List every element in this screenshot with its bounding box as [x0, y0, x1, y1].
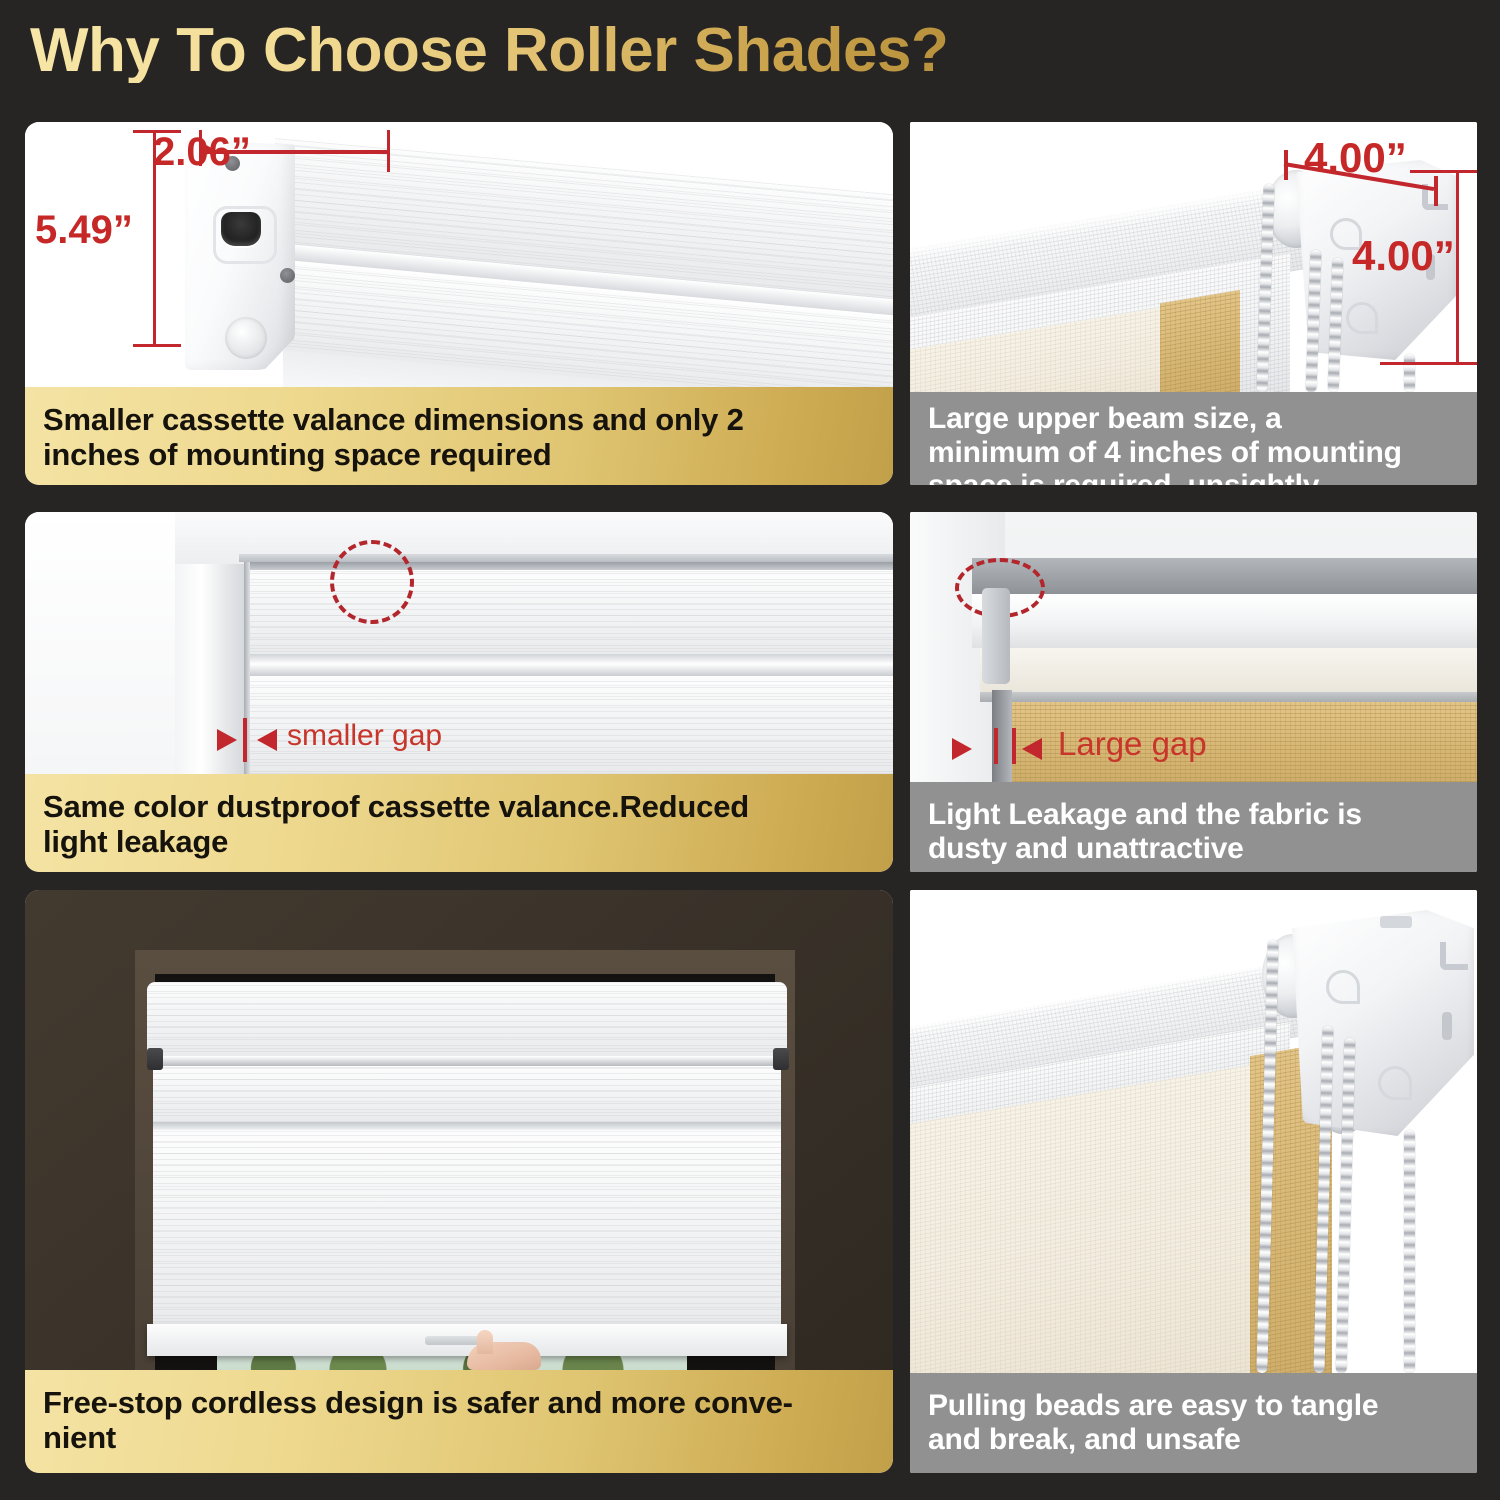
bracket-notch	[1380, 916, 1412, 928]
bracket-emblem-lower	[1346, 302, 1378, 334]
bottom-rail-grip	[425, 1336, 483, 1345]
gap-arrow-right	[1022, 738, 1042, 760]
bracket-emblem-lower	[1378, 1066, 1412, 1100]
caption-line: Free-stop cordless design is safer and m…	[43, 1386, 793, 1421]
caption-line: Smaller cassette valance dimensions and …	[43, 403, 744, 438]
beam-height-tick-bottom	[1380, 362, 1477, 365]
panel-cassette-dimensions: 2.06” 5.49” Smaller cassette valance dim…	[25, 122, 893, 485]
gap-marker-bar	[243, 718, 247, 762]
gap-arrow-left	[952, 738, 972, 760]
panel-pulling-beads: Pulling beads are easy to tangle and bre…	[910, 890, 1477, 1473]
cassette-clutch-ring	[213, 206, 277, 264]
bead-chain-tail	[1404, 354, 1415, 392]
caption-cassette-dimensions: Smaller cassette valance dimensions and …	[25, 387, 893, 485]
gap-marker-bar-right	[1012, 728, 1016, 764]
beam-height-label: 4.00”	[1352, 232, 1455, 280]
caption-cordless-design: Free-stop cordless design is safer and m…	[25, 1370, 893, 1473]
cassette-head-shadow	[153, 1122, 781, 1130]
caption-line: dusty and unattractive	[928, 832, 1362, 866]
caption-line: and break, and unsafe	[928, 1423, 1378, 1457]
head-end-cap-left	[147, 1048, 163, 1070]
panel-large-upper-beam: 4.00” 4.00” Large upper beam size, a min…	[910, 122, 1477, 485]
caption-line: Same color dustproof cassette valance.Re…	[43, 790, 749, 825]
cordless-design-photo	[25, 890, 893, 1370]
caption-large-upper-beam: Large upper beam size, a minimum of 4 in…	[910, 392, 1477, 485]
page-title: Why To Choose Roller Shades?	[30, 18, 948, 83]
gap-marker-bar-left	[994, 728, 998, 764]
caption-line: Light Leakage and the fabric is	[928, 798, 1362, 832]
cassette-screw-bottom	[225, 317, 267, 359]
caption-line: light leakage	[43, 825, 749, 860]
cassette-screw-mid	[280, 268, 295, 283]
height-dim-tick-top	[133, 130, 181, 133]
caption-line: nient	[43, 1421, 793, 1456]
beam-height-line	[1456, 170, 1459, 365]
caption-pulling-beads: Pulling beads are easy to tangle and bre…	[910, 1373, 1477, 1473]
large-gap-label: Large gap	[1058, 725, 1207, 763]
caption-line: space is required, unsightly	[928, 469, 1402, 485]
pulling-beads-photo	[910, 890, 1477, 1373]
bracket-slot-a	[1440, 942, 1468, 970]
bracket-emblem-upper	[1326, 970, 1360, 1004]
gap-arrow-left	[217, 729, 237, 751]
shade-cassette-head	[147, 982, 787, 1060]
clutch-stack	[982, 588, 1010, 684]
light-leakage-photo: Large gap	[910, 512, 1477, 782]
tan-backing-panel	[1160, 290, 1240, 392]
cassette-head-groove	[147, 1056, 787, 1066]
head-end-cap-right	[773, 1048, 789, 1070]
bead-chain-tail	[1404, 1130, 1415, 1373]
bracket-slot-b	[1442, 1012, 1452, 1040]
panel-cordless-design: Free-stop cordless design is safer and m…	[25, 890, 893, 1473]
caption-line: minimum of 4 inches of mounting	[928, 436, 1402, 470]
highlight-circle	[330, 540, 414, 624]
cassette-valance-shadow	[249, 654, 893, 664]
gap-arrow-right	[257, 729, 277, 751]
height-dimension-label: 5.49”	[35, 208, 133, 253]
upper-beam-face	[972, 594, 1477, 648]
caption-line: Large upper beam size, a	[928, 402, 1402, 436]
cassette-head-lower	[153, 1066, 781, 1124]
height-dim-tick-bottom	[133, 344, 181, 347]
hand-finger	[477, 1330, 493, 1354]
dustproof-cassette-photo: smaller gap	[25, 512, 893, 774]
beam-width-label: 4.00”	[1304, 134, 1407, 182]
beam-height-tick-top	[1410, 170, 1477, 173]
beam-width-tick-right	[1434, 176, 1438, 206]
cassette-dimensions-photo: 2.06” 5.49”	[25, 122, 893, 387]
caption-line: inches of mounting space required	[43, 438, 744, 473]
beam-lower-lip	[980, 648, 1477, 692]
panel-dustproof-cassette: smaller gap Same color dustproof cassett…	[25, 512, 893, 872]
caption-dustproof-cassette: Same color dustproof cassette valance.Re…	[25, 774, 893, 872]
large-upper-beam-photo: 4.00” 4.00”	[910, 122, 1477, 392]
height-dim-line	[153, 130, 156, 347]
caption-line: Pulling beads are easy to tangle	[928, 1389, 1378, 1423]
shade-body	[153, 1130, 781, 1330]
beam-lip-shadow	[980, 692, 1477, 702]
caption-light-leakage: Light Leakage and the fabric is dusty an…	[910, 782, 1477, 872]
width-dimension-label: 2.06”	[153, 130, 251, 175]
smaller-gap-label: smaller gap	[287, 719, 442, 753]
panel-light-leakage: Large gap Light Leakage and the fabric i…	[910, 512, 1477, 872]
shade-rail	[249, 664, 893, 676]
upper-beam-top	[972, 558, 1477, 594]
